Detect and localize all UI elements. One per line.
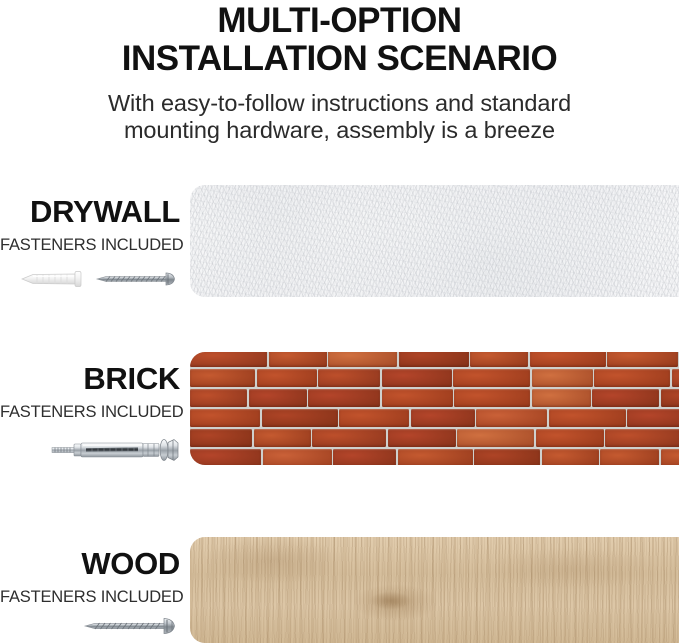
brick-material-name: BRICK xyxy=(0,352,180,395)
brick-unit xyxy=(262,409,338,427)
brick-unit xyxy=(257,369,317,387)
wood-material-name: WOOD xyxy=(0,537,180,580)
brick-unit xyxy=(249,389,307,407)
page-subtitle: With easy-to-follow instructions and sta… xyxy=(0,78,679,144)
wood-surface-panel xyxy=(190,537,679,643)
brick-unit xyxy=(190,449,261,465)
brick-unit xyxy=(532,369,593,387)
brick-unit xyxy=(269,352,327,367)
brick-unit xyxy=(453,369,530,387)
brick-unit xyxy=(592,389,659,407)
section-brick: BRICK FASTENERS INCLUDED xyxy=(0,352,679,465)
brick-unit xyxy=(398,449,473,465)
brick-unit xyxy=(457,429,534,447)
brick-unit xyxy=(328,352,397,367)
brick-unit xyxy=(532,389,591,407)
drywall-material-name: DRYWALL xyxy=(0,185,180,228)
brick-unit xyxy=(627,409,679,427)
wall-anchor-icon xyxy=(20,269,86,289)
brick-unit xyxy=(600,449,659,465)
drywall-fasteners-note: FASTENERS INCLUDED xyxy=(0,228,180,255)
brick-unit xyxy=(339,409,409,427)
page-title: MULTI-OPTION INSTALLATION SCENARIO xyxy=(0,0,679,78)
brick-fasteners-note: FASTENERS INCLUDED xyxy=(0,395,180,422)
brick-unit xyxy=(530,352,606,367)
brick-unit xyxy=(470,352,528,367)
brick-unit xyxy=(190,369,255,387)
wood-label-column: WOOD FASTENERS INCLUDED xyxy=(0,537,185,643)
brick-unit xyxy=(474,449,540,465)
drywall-screw-icon xyxy=(94,269,180,289)
brick-unit xyxy=(190,352,267,367)
drywall-label-column: DRYWALL FASTENERS INCLUDED xyxy=(0,185,185,297)
brick-unit xyxy=(312,429,386,447)
brick-unit xyxy=(382,369,452,387)
brick-surface-panel xyxy=(190,352,679,465)
section-drywall: DRYWALL FASTENERS INCLUDED xyxy=(0,185,679,297)
brick-unit xyxy=(399,352,469,367)
brick-unit xyxy=(536,429,604,447)
brick-unit xyxy=(190,429,252,447)
brick-unit xyxy=(549,409,626,427)
drywall-surface-panel xyxy=(190,185,679,297)
brick-unit xyxy=(190,409,260,427)
brick-unit xyxy=(254,429,311,447)
brick-pattern xyxy=(190,352,679,465)
wood-screw-icon xyxy=(82,615,180,637)
brick-unit xyxy=(605,429,679,447)
header: MULTI-OPTION INSTALLATION SCENARIO With … xyxy=(0,0,679,144)
brick-unit xyxy=(454,389,530,407)
brick-unit xyxy=(318,369,380,387)
sleeve-anchor-icon xyxy=(50,437,180,463)
brick-unit xyxy=(476,409,547,427)
section-wood: WOOD FASTENERS INCLUDED xyxy=(0,537,679,643)
brick-unit xyxy=(411,409,475,427)
brick-label-column: BRICK FASTENERS INCLUDED xyxy=(0,352,185,465)
brick-unit xyxy=(661,449,679,465)
brick-unit xyxy=(333,449,396,465)
brick-unit xyxy=(542,449,599,465)
brick-hardware-group xyxy=(50,437,180,463)
brick-unit xyxy=(607,352,678,367)
brick-unit xyxy=(190,389,247,407)
brick-unit xyxy=(263,449,332,465)
brick-unit xyxy=(672,369,679,387)
brick-unit xyxy=(661,389,679,407)
brick-unit xyxy=(388,429,456,447)
brick-unit xyxy=(594,369,670,387)
drywall-hardware-group xyxy=(20,269,180,289)
wood-fasteners-note: FASTENERS INCLUDED xyxy=(0,580,180,607)
wood-hardware-group xyxy=(82,615,180,637)
brick-unit xyxy=(308,389,380,407)
brick-unit xyxy=(382,389,453,407)
